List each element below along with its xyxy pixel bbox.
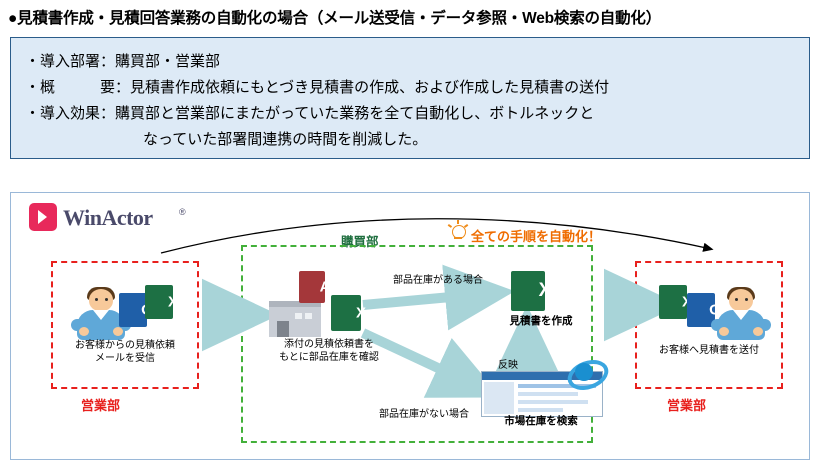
workflow-diagram: WinActor ® 購買部 全ての手順を自動化！ 営業部 営業部	[10, 192, 810, 460]
excel-icon-quote: X	[511, 271, 545, 311]
internet-explorer-icon	[567, 357, 601, 387]
summary-row-effect-cont: なっていた部署間連携の時間を削減した。	[143, 128, 427, 149]
caption-receive-mail-line1: お客様からの見積依頼	[59, 340, 191, 353]
caption-receive-mail: お客様からの見積依頼 メールを受信	[59, 340, 191, 365]
caption-stock-unavailable: 部品在庫がない場合	[379, 409, 469, 422]
caption-check-stock: 添付の見積依頼書を もとに部品在庫を確認	[249, 339, 409, 364]
summary-row-department: ・導入部署：購買部・営業部	[25, 50, 220, 71]
summary-row-overview: ・概 要：見積書作成依頼にもとづき見積書の作成、および作成した見積書の送付	[25, 76, 609, 97]
caption-create-quote: 見積書を作成	[481, 315, 601, 328]
summary-value-effect: 購買部と営業部にまたがっていた業務を全て自動化し、ボトルネックと	[115, 105, 594, 122]
caption-check-stock-line2: もとに部品在庫を確認	[249, 352, 409, 365]
summary-label-overview: ・概 要：	[25, 76, 130, 97]
caption-check-stock-line1: 添付の見積依頼書を	[249, 339, 409, 352]
excel-icon-quote-label: X	[528, 280, 562, 302]
excel-icon-left-label: X	[159, 294, 187, 311]
excel-icon-left: X	[145, 285, 173, 319]
summary-label-effect: ・導入効果：	[25, 102, 115, 123]
summary-value-department: 購買部・営業部	[115, 53, 220, 70]
caption-search-market: 市場在庫を検索	[473, 415, 609, 428]
caption-stock-available: 部品在庫がある場合	[393, 275, 483, 288]
access-icon-label: A	[312, 279, 338, 296]
outlook-icon-left: O	[119, 293, 147, 327]
access-icon: A	[299, 271, 325, 303]
caption-receive-mail-line2: メールを受信	[59, 353, 191, 366]
summary-value-effect-cont: なっていた部署間連携の時間を削減した。	[143, 131, 427, 148]
summary-value-overview: 見積書作成依頼にもとづき見積書の作成、および作成した見積書の送付	[130, 79, 609, 96]
summary-label-department: ・導入部署：	[25, 50, 115, 71]
excel-icon-center: X	[331, 295, 361, 331]
sales-person-right-avatar	[711, 289, 771, 345]
caption-send-quote: お客様へ見積書を送付	[643, 345, 775, 358]
page-title: ●見積書作成・見積回答業務の自動化の場合（メール送受信・データ参照・Web検索の…	[8, 6, 818, 28]
summary-box: ・導入部署：購買部・営業部 ・概 要：見積書作成依頼にもとづき見積書の作成、およ…	[10, 37, 810, 159]
excel-icon-right: X	[659, 285, 687, 319]
excel-icon-center-label: X	[346, 305, 376, 322]
summary-row-effect: ・導入効果：購買部と営業部にまたがっていた業務を全て自動化し、ボトルネックと	[25, 102, 594, 123]
